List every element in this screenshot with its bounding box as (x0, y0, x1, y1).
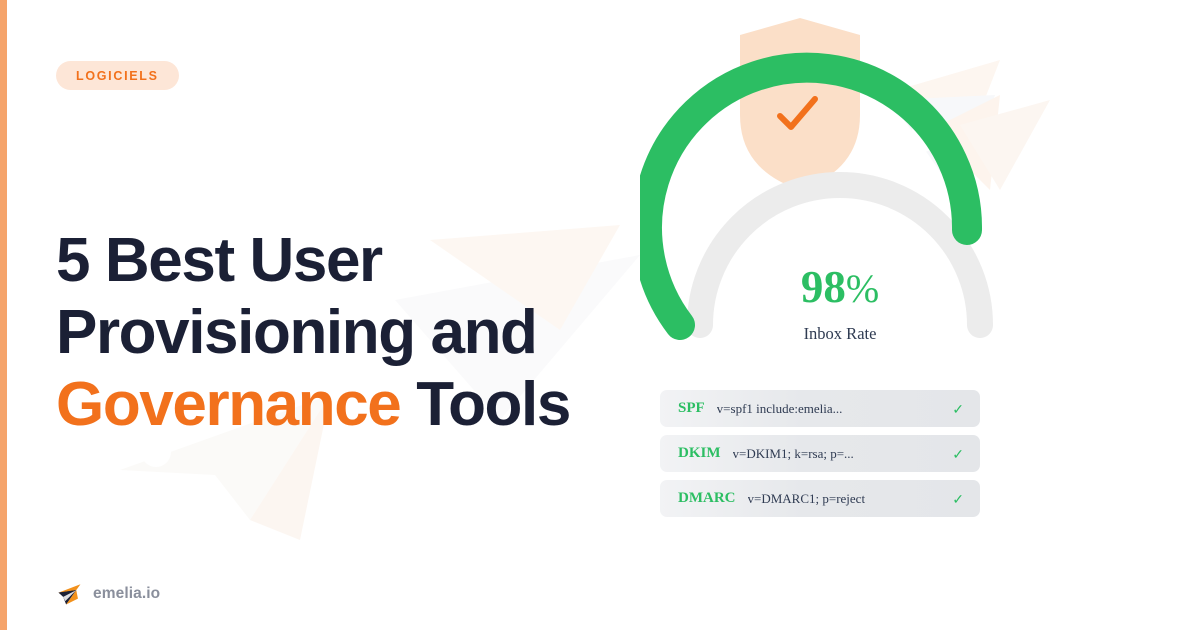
content-right: 98% Inbox Rate SPF v=spf1 include:emelia… (640, 0, 1200, 630)
gauge-value-unit: % (846, 266, 879, 311)
gauge-value: 98% (640, 265, 1040, 310)
gauge-label: Inbox Rate (640, 324, 1040, 344)
record-row: DMARC v=DMARC1; p=reject ✓ (660, 480, 980, 517)
category-badge: LOGICIELS (56, 61, 179, 90)
brand-name: emelia.io (93, 585, 160, 603)
headline-line-3-rest: Tools (416, 370, 570, 439)
headline-accent: Governance (56, 370, 400, 439)
record-key: DKIM (678, 445, 721, 462)
content-left: LOGICIELS 5 Best User Provisioning and G… (56, 0, 666, 630)
paper-plane-icon (56, 580, 83, 607)
inbox-rate-gauge: 98% Inbox Rate (640, 10, 1040, 355)
email-auth-records: SPF v=spf1 include:emelia... ✓ DKIM v=DK… (660, 390, 980, 517)
left-accent-bar (0, 0, 7, 630)
check-icon: ✓ (952, 402, 964, 416)
record-key: DMARC (678, 490, 736, 507)
record-value: v=DMARC1; p=reject (748, 491, 866, 507)
check-icon: ✓ (952, 447, 964, 461)
check-icon: ✓ (952, 492, 964, 506)
record-row: SPF v=spf1 include:emelia... ✓ (660, 390, 980, 427)
record-row: DKIM v=DKIM1; k=rsa; p=... ✓ (660, 435, 980, 472)
gauge-value-number: 98 (801, 262, 846, 312)
record-value: v=spf1 include:emelia... (717, 401, 843, 417)
brand-logo: emelia.io (56, 580, 160, 607)
check-icon (770, 88, 830, 143)
record-value: v=DKIM1; k=rsa; p=... (733, 446, 854, 462)
headline-line-2: Provisioning and (56, 298, 537, 367)
social-card: LOGICIELS 5 Best User Provisioning and G… (0, 0, 1200, 630)
record-key: SPF (678, 400, 705, 417)
page-title: 5 Best User Provisioning and Governance … (56, 225, 656, 441)
headline-line-1: 5 Best User (56, 226, 382, 295)
